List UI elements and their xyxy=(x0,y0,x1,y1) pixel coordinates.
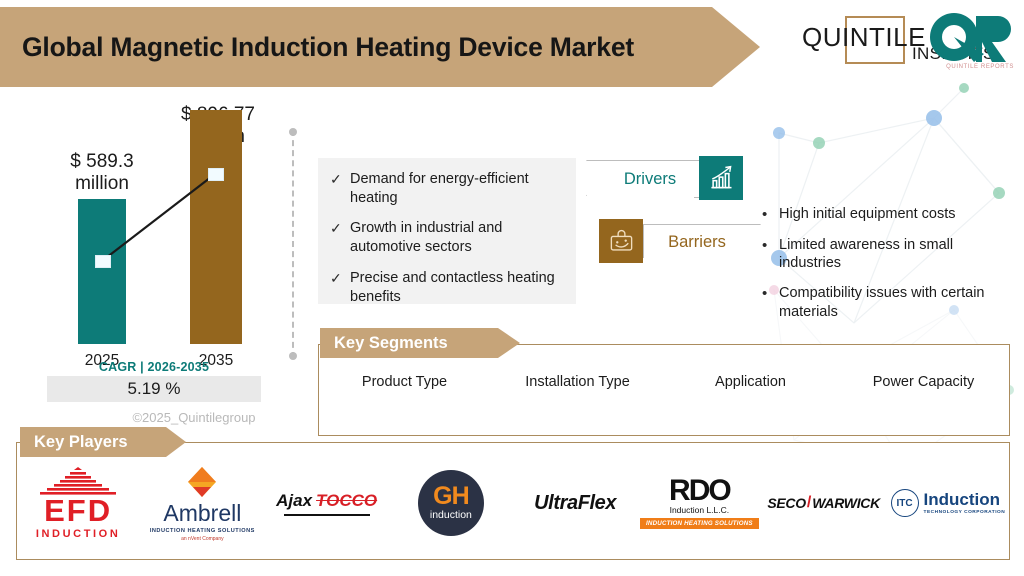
player-name-ambrell: Ambrell xyxy=(163,502,241,525)
driver-item-label: Demand for energy-efficient heating xyxy=(350,170,564,208)
player-name-seco: SECO xyxy=(767,495,805,511)
barriers-label: Barriers xyxy=(668,233,738,252)
driver-item-label: Precise and contactless heating benefits xyxy=(350,269,564,307)
player-logo-rdo: RDO Induction L.L.C. INDUCTION HEATING S… xyxy=(637,462,761,544)
player-logo-ultraflex: UltraFlex xyxy=(513,462,637,544)
key-players-tag: Key Players xyxy=(20,427,186,457)
infographic-canvas: Global Magnetic Induction Heating Device… xyxy=(0,0,1024,576)
player-sub-efd: INDUCTION xyxy=(36,528,121,540)
player-logo-gh-induction: GH induction xyxy=(389,462,513,544)
ambrell-diamond-icon xyxy=(185,465,219,499)
bar-value-label-2025: $ 589.3 million xyxy=(40,151,164,196)
bar-2035 xyxy=(190,110,242,344)
growth-chart-icon xyxy=(699,156,743,200)
player-sub-warwick: WARWICK xyxy=(812,495,880,511)
logo-qr-sub-text: QUINTILE REPORTS xyxy=(946,64,1014,70)
toolbox-icon xyxy=(599,219,643,263)
player-logo-ajax-tocco: Ajax TOCCO xyxy=(265,462,389,544)
drivers-label: Drivers xyxy=(614,170,676,189)
player-band-rdo: INDUCTION HEATING SOLUTIONS xyxy=(640,518,759,529)
divider-dot-bottom-icon xyxy=(289,352,297,360)
watermark-text: ©2025_Quintilegroup xyxy=(80,410,308,425)
player-logo-ambrell: Ambrell INDUCTION HEATING SOLUTIONS an n… xyxy=(140,462,264,544)
player-logo-itc-induction: ITC Induction TECHNOLOGY CORPORATION xyxy=(886,462,1010,544)
efd-pyramid-icon xyxy=(36,466,120,496)
drivers-list: ✓ Demand for energy-efficient heating ✓ … xyxy=(318,158,576,304)
segment-item: Power Capacity xyxy=(837,374,1010,390)
segment-item: Product Type xyxy=(318,374,491,390)
key-players-tag-label: Key Players xyxy=(20,433,128,452)
key-segments-tag-label: Key Segments xyxy=(320,334,448,353)
key-segments-tag: Key Segments xyxy=(320,328,520,358)
key-players-row: EFD INDUCTION Ambrell INDUCTION HEATING … xyxy=(16,462,1010,544)
logo-qr-mark-icon xyxy=(924,10,1016,68)
barrier-item: • Limited awareness in small industries xyxy=(762,236,1016,274)
cagr-value: 5.19 % xyxy=(47,376,261,402)
vertical-divider xyxy=(292,130,294,358)
barriers-list: • High initial equipment costs • Limited… xyxy=(762,205,1016,333)
itc-badge-icon: ITC xyxy=(891,489,919,517)
player-name-itc: Induction xyxy=(924,491,1006,508)
barrier-item-label: Limited awareness in small industries xyxy=(779,236,1016,274)
header-banner: Global Magnetic Induction Heating Device… xyxy=(0,7,760,87)
market-size-chart: $ 589.3 million $ 896.77 million 2025 20… xyxy=(14,98,294,418)
seco-slash-icon: / xyxy=(807,494,811,512)
check-icon: ✓ xyxy=(330,269,350,307)
player-sub-itc: TECHNOLOGY CORPORATION xyxy=(924,510,1006,515)
driver-item: ✓ Precise and contactless heating benefi… xyxy=(330,269,564,307)
barrier-item: • High initial equipment costs xyxy=(762,205,1016,225)
player-name-rdo: RDO xyxy=(669,477,730,504)
driver-item: ✓ Growth in industrial and automotive se… xyxy=(330,219,564,257)
player-sub-ambrell: INDUCTION HEATING SOLUTIONS xyxy=(150,528,255,534)
segment-item: Installation Type xyxy=(491,374,664,390)
bullet-icon: • xyxy=(762,236,779,274)
data-point-2025 xyxy=(95,255,111,268)
segment-item: Application xyxy=(664,374,837,390)
player-name-ajax: Ajax xyxy=(276,491,312,511)
bar-2025 xyxy=(78,199,126,344)
player-name-efd: EFD xyxy=(44,496,112,525)
barrier-item-label: Compatibility issues with certain materi… xyxy=(779,284,1016,322)
check-icon: ✓ xyxy=(330,219,350,257)
barrier-item: • Compatibility issues with certain mate… xyxy=(762,284,1016,322)
bullet-icon: • xyxy=(762,205,779,225)
bar-value-amount-2025: $ 589.3 xyxy=(40,151,164,173)
player-name-gh: GH xyxy=(433,485,469,508)
ajax-underline-icon xyxy=(284,514,370,516)
barrier-item-label: High initial equipment costs xyxy=(779,205,956,225)
player-logo-seco-warwick: SECO / WARWICK xyxy=(762,462,886,544)
barriers-ribbon: Barriers xyxy=(643,224,763,260)
bar-value-unit-2025: million xyxy=(40,173,164,195)
bullet-icon: • xyxy=(762,284,779,322)
company-logo: QUINTILE INSIGHTS QUINTILE REPORTS xyxy=(794,8,1018,72)
player-name-ultraflex: UltraFlex xyxy=(534,492,616,515)
check-icon: ✓ xyxy=(330,170,350,208)
player-logo-efd: EFD INDUCTION xyxy=(16,462,140,544)
logo-brand-main: QUINTILE xyxy=(802,22,926,53)
player-sub-tocco: TOCCO xyxy=(316,491,377,511)
player-sub2-ambrell: an nVent Company xyxy=(181,536,224,542)
player-sub-rdo: Induction L.L.C. xyxy=(670,505,730,515)
page-title: Global Magnetic Induction Heating Device… xyxy=(0,31,634,63)
player-sub-gh: induction xyxy=(430,509,472,521)
driver-item-label: Growth in industrial and automotive sect… xyxy=(350,219,564,257)
drivers-ribbon: Drivers xyxy=(586,160,704,198)
data-point-2035 xyxy=(208,168,224,181)
key-segments-row: Product Type Installation Type Applicati… xyxy=(318,374,1010,390)
driver-item: ✓ Demand for energy-efficient heating xyxy=(330,170,564,208)
cagr-label: CAGR | 2026-2035 xyxy=(14,360,294,374)
